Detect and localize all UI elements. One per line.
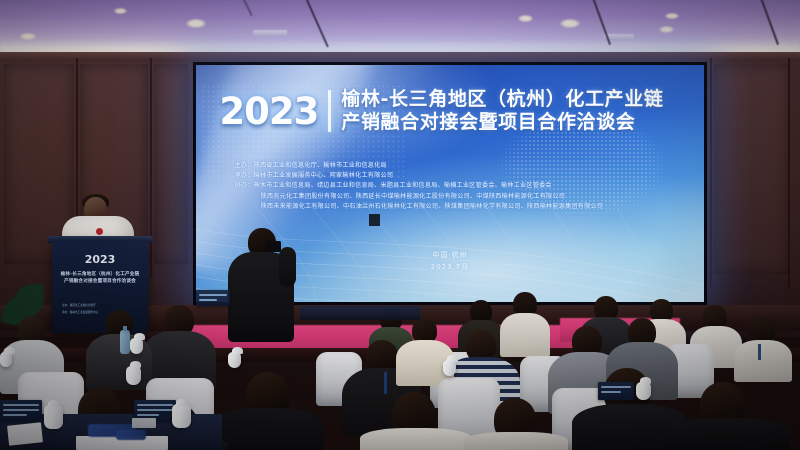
delegate-name-card-3	[598, 382, 634, 400]
downlight-2	[186, 19, 206, 28]
torso	[668, 418, 790, 450]
wall-seam-2	[150, 58, 152, 278]
tea-cup-3	[126, 366, 141, 385]
name-card-line-1	[3, 404, 39, 406]
speaker-lapel-badge	[96, 228, 103, 235]
photographer-raised-arm	[279, 247, 296, 287]
name-card-line-1	[601, 386, 631, 388]
name-card-line-2	[601, 391, 621, 393]
tea-cup-7	[636, 382, 651, 400]
tea-cup-5	[228, 352, 241, 368]
podium-year: 2023	[52, 253, 148, 266]
screen-occlusion-blot	[369, 214, 380, 226]
torso	[500, 313, 550, 357]
wall-panel-right-1	[714, 64, 790, 274]
screen-year: 2023	[219, 93, 318, 130]
organizer-line-4: 陕西兆元化工集团股份有限公司、陕西延长中煤榆林能源化工股份有限公司、中煤陕西榆林…	[235, 193, 689, 202]
conference-hall-photo: 2023 榆林-长三角地区（杭州）化工产业链 产销融合对接会暨项目合作洽谈会 主…	[0, 0, 800, 450]
screen-footer-location: 中国·杭州	[432, 250, 467, 260]
torso	[212, 408, 324, 450]
screen-organizer-block: 主办：陕西省工业和信息化厅、榆林市工业和信息化局 承办：榆林市工业发展服务中心、…	[235, 162, 689, 211]
downlight-5	[518, 15, 533, 22]
ceiling-speaker-plate-1	[253, 30, 287, 36]
organizer-line-2: 承办：榆林市工业发展服务中心、阿家榆林化工有限公司	[235, 172, 689, 181]
tea-cup-1	[44, 405, 63, 429]
wall-seam-4	[788, 58, 790, 288]
torso	[464, 432, 568, 450]
organizer-line-3: 协办：神木市工业和信息局、靖边县工业和信息局、米脂县工业和信息局、榆横工业区管委…	[235, 182, 689, 191]
document-stack-2	[7, 422, 43, 445]
tea-cup-4	[130, 338, 143, 354]
name-card-line-3	[3, 414, 27, 416]
screen-footer-date: 2023.7月	[431, 262, 470, 272]
downlight-7	[114, 8, 127, 14]
delegate-name-card-1	[0, 400, 42, 421]
lanyard-badge-strap-1	[758, 344, 761, 360]
screen-title-line-1: 榆林-长三角地区（杭州）化工产业链	[341, 89, 663, 111]
downlight-6	[665, 13, 679, 19]
conference-table-mid	[300, 306, 420, 320]
podium-title-line-1: 榆林-长三角地区（杭州）化工产业链	[60, 271, 140, 277]
screen-title-lines: 榆林-长三角地区（杭州）化工产业链 产销融合对接会暨项目合作洽谈会	[341, 89, 663, 134]
organizer-line-5: 陕西未来能源化工有限公司、中石油兰州石化榆林化工有限公司、陕煤集团榆林化学有限公…	[235, 203, 689, 212]
name-card-line-3	[137, 414, 159, 416]
torso	[734, 340, 792, 382]
wall-seam-3	[710, 58, 712, 288]
podium-sub-line-2: 承办：榆林市工业发展服务中心	[62, 310, 142, 314]
tea-cup-8	[0, 352, 12, 367]
camera-device	[266, 241, 281, 252]
wall-top-trim	[0, 52, 800, 61]
podium: 2023 榆林-长三角地区（杭州）化工产业链 产销融合对接会暨项目合作洽谈会 主…	[52, 241, 148, 333]
name-card-line-1	[137, 404, 173, 406]
name-card-line-2	[137, 409, 173, 411]
blue-giveaway-items-2	[116, 430, 146, 440]
lanyard-badge-strap-2	[384, 372, 387, 394]
water-bottle-1	[120, 330, 130, 354]
downlight-1	[20, 33, 36, 40]
downlight-4	[659, 26, 674, 33]
name-card-line-1	[199, 294, 227, 296]
screen-title-divider	[328, 90, 331, 132]
wall-panel-left-3	[154, 64, 188, 264]
name-card-line-2	[199, 299, 217, 301]
organizer-line-1: 主办：陕西省工业和信息化厅、榆林市工业和信息化局	[235, 162, 689, 171]
podium-sub-line-1: 主办：陕西省工业和信息化厅	[62, 303, 142, 307]
podium-title-line-2: 产销融合对接会暨项目合作洽谈会	[60, 278, 140, 284]
delegate-name-card-4	[196, 290, 230, 306]
tea-cup-2	[172, 404, 191, 428]
screen-title-line-2: 产销融合对接会暨项目合作洽谈会	[341, 112, 663, 134]
screen-title-block: 2023 榆林-长三角地区（杭州）化工产业链 产销融合对接会暨项目合作洽谈会	[219, 89, 688, 134]
downlight-3	[560, 19, 580, 28]
name-card-line-2	[3, 409, 39, 411]
tea-cup-6	[443, 360, 456, 376]
document-stack-3	[132, 418, 156, 428]
torso	[360, 428, 472, 450]
